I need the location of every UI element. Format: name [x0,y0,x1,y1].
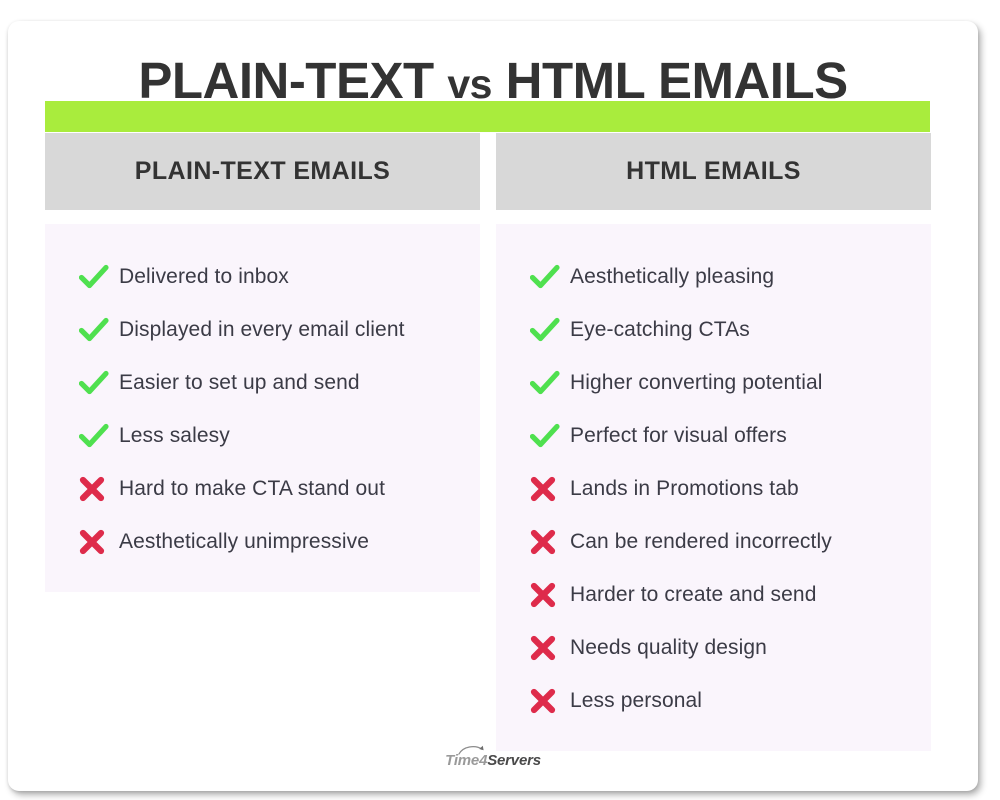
cross-icon [530,688,570,714]
cross-icon [530,582,570,608]
column-header-plain-text: PLAIN-TEXT EMAILS [45,133,480,210]
list-item: Needs quality design [496,621,931,674]
check-icon [79,423,119,449]
brand-logo: Time4Servers [445,752,541,769]
column-body-html: Aesthetically pleasingEye-catching CTAsH… [496,224,931,751]
list-item-label: Aesthetically unimpressive [119,530,369,554]
list-item: Easier to set up and send [45,356,480,409]
check-icon [530,370,570,396]
swoosh-arrow-icon [457,743,487,760]
column-html-emails: HTML EMAILS Aesthetically pleasingEye-ca… [496,133,931,751]
cross-icon [79,529,119,555]
list-item-label: Hard to make CTA stand out [119,477,385,501]
list-item: Perfect for visual offers [496,409,931,462]
page-title: PLAIN-TEXT vs HTML EMAILS [8,42,978,123]
list-item: Eye-catching CTAs [496,303,931,356]
list-item: Lands in Promotions tab [496,462,931,515]
list-item-label: Can be rendered incorrectly [570,530,832,554]
title-block: PLAIN-TEXT vs HTML EMAILS [8,42,978,142]
cross-icon [530,476,570,502]
check-icon [79,264,119,290]
list-item-label: Less salesy [119,424,230,448]
title-part-after: HTML EMAILS [492,52,848,109]
check-icon [530,423,570,449]
list-item-label: Needs quality design [570,636,767,660]
list-item-label: Higher converting potential [570,371,823,395]
list-item-label: Lands in Promotions tab [570,477,799,501]
list-item-label: Less personal [570,689,702,713]
list-item-label: Easier to set up and send [119,371,360,395]
footer: Time4Servers [8,752,978,769]
list-item: Delivered to inbox [45,250,480,303]
column-plain-text-emails: PLAIN-TEXT EMAILS Delivered to inboxDisp… [45,133,480,592]
list-item-label: Harder to create and send [570,583,816,607]
column-body-plain-text: Delivered to inboxDisplayed in every ema… [45,224,480,592]
cross-icon [79,476,119,502]
list-item-label: Eye-catching CTAs [570,318,750,342]
infographic-canvas: PLAIN-TEXT vs HTML EMAILS PLAIN-TEXT EMA… [0,0,1000,800]
cross-icon [530,635,570,661]
column-header-html: HTML EMAILS [496,133,931,210]
list-item: Displayed in every email client [45,303,480,356]
infographic-card: PLAIN-TEXT vs HTML EMAILS PLAIN-TEXT EMA… [8,21,978,791]
list-item: Aesthetically pleasing [496,250,931,303]
list-item: Less personal [496,674,931,727]
list-item: Harder to create and send [496,568,931,621]
list-item: Less salesy [45,409,480,462]
cross-icon [530,529,570,555]
list-item: Hard to make CTA stand out [45,462,480,515]
check-icon [530,264,570,290]
logo-text-servers: Servers [487,752,541,769]
list-item: Higher converting potential [496,356,931,409]
list-item: Aesthetically unimpressive [45,515,480,568]
list-item: Can be rendered incorrectly [496,515,931,568]
list-item-label: Aesthetically pleasing [570,265,774,289]
list-item-label: Displayed in every email client [119,318,405,342]
title-part-before: PLAIN-TEXT [138,52,447,109]
list-item-label: Perfect for visual offers [570,424,787,448]
check-icon [79,370,119,396]
check-icon [530,317,570,343]
title-part-vs: vs [447,61,492,107]
list-item-label: Delivered to inbox [119,265,289,289]
check-icon [79,317,119,343]
